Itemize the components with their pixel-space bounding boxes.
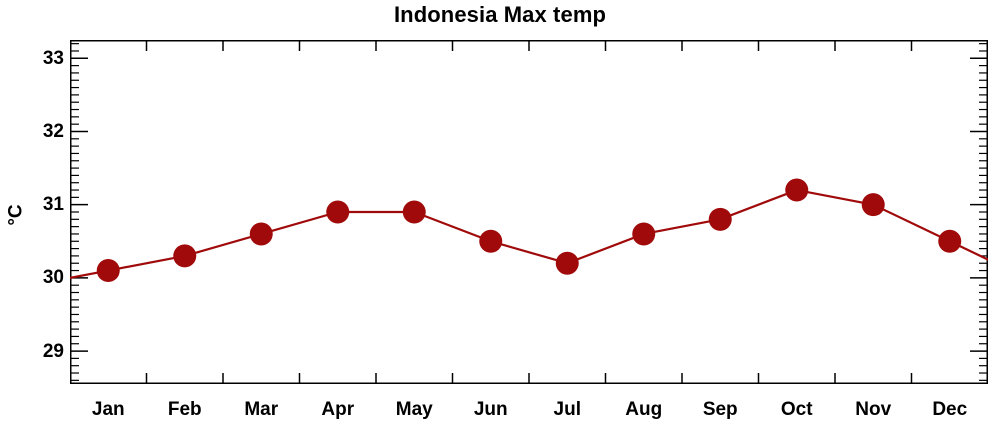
x-axis-tick-label: Feb [168, 398, 202, 422]
x-axis-tick-label: Jul [554, 398, 581, 422]
data-point-marker [862, 193, 885, 216]
axis-major-ticks [71, 58, 988, 351]
chart-title: Indonesia Max temp [0, 0, 1000, 30]
data-point-marker [326, 201, 349, 224]
axis-minor-ticks [71, 44, 988, 381]
x-axis-tick-label: Jun [474, 398, 508, 422]
y-axis-tick-labels: 3332313029 [16, 40, 64, 384]
data-point-marker [709, 208, 732, 231]
x-axis-tick-label: Jan [92, 398, 125, 422]
y-axis-tick-label: 30 [20, 268, 64, 287]
x-axis-ticks [147, 41, 912, 384]
data-point-marker [938, 230, 961, 253]
x-axis-tick-label: Mar [244, 398, 278, 422]
y-axis-tick-label: 31 [20, 195, 64, 214]
y-axis-tick-label: 29 [20, 342, 64, 361]
series-markers-max-temp [97, 179, 962, 283]
plot-svg [70, 40, 988, 384]
data-point-marker [97, 259, 120, 282]
x-axis-tick-label: Sep [703, 398, 738, 422]
data-point-marker [479, 230, 502, 253]
chart-page: Indonesia Max temp °C 3332313029 JanFebM… [0, 0, 1000, 431]
x-axis-tick-label: Nov [855, 398, 891, 422]
data-point-marker [173, 244, 196, 267]
x-axis-tick-labels: JanFebMarAprMayJunJulAugSepOctNovDec [70, 398, 988, 426]
x-axis-tick-label: Apr [321, 398, 354, 422]
x-axis-tick-label: Aug [625, 398, 662, 422]
data-point-marker [403, 201, 426, 224]
x-axis-tick-label: Dec [932, 398, 967, 422]
y-axis-tick-label: 33 [20, 49, 64, 68]
data-point-marker [556, 252, 579, 275]
y-axis-tick-label: 32 [20, 122, 64, 141]
series-line-max-temp [70, 190, 988, 278]
x-axis-tick-label: Oct [781, 398, 813, 422]
plot-area [70, 40, 988, 384]
plot-frame [71, 41, 988, 384]
data-point-marker [250, 222, 273, 245]
data-point-marker [785, 179, 808, 202]
data-point-marker [632, 222, 655, 245]
x-axis-tick-label: May [396, 398, 433, 422]
